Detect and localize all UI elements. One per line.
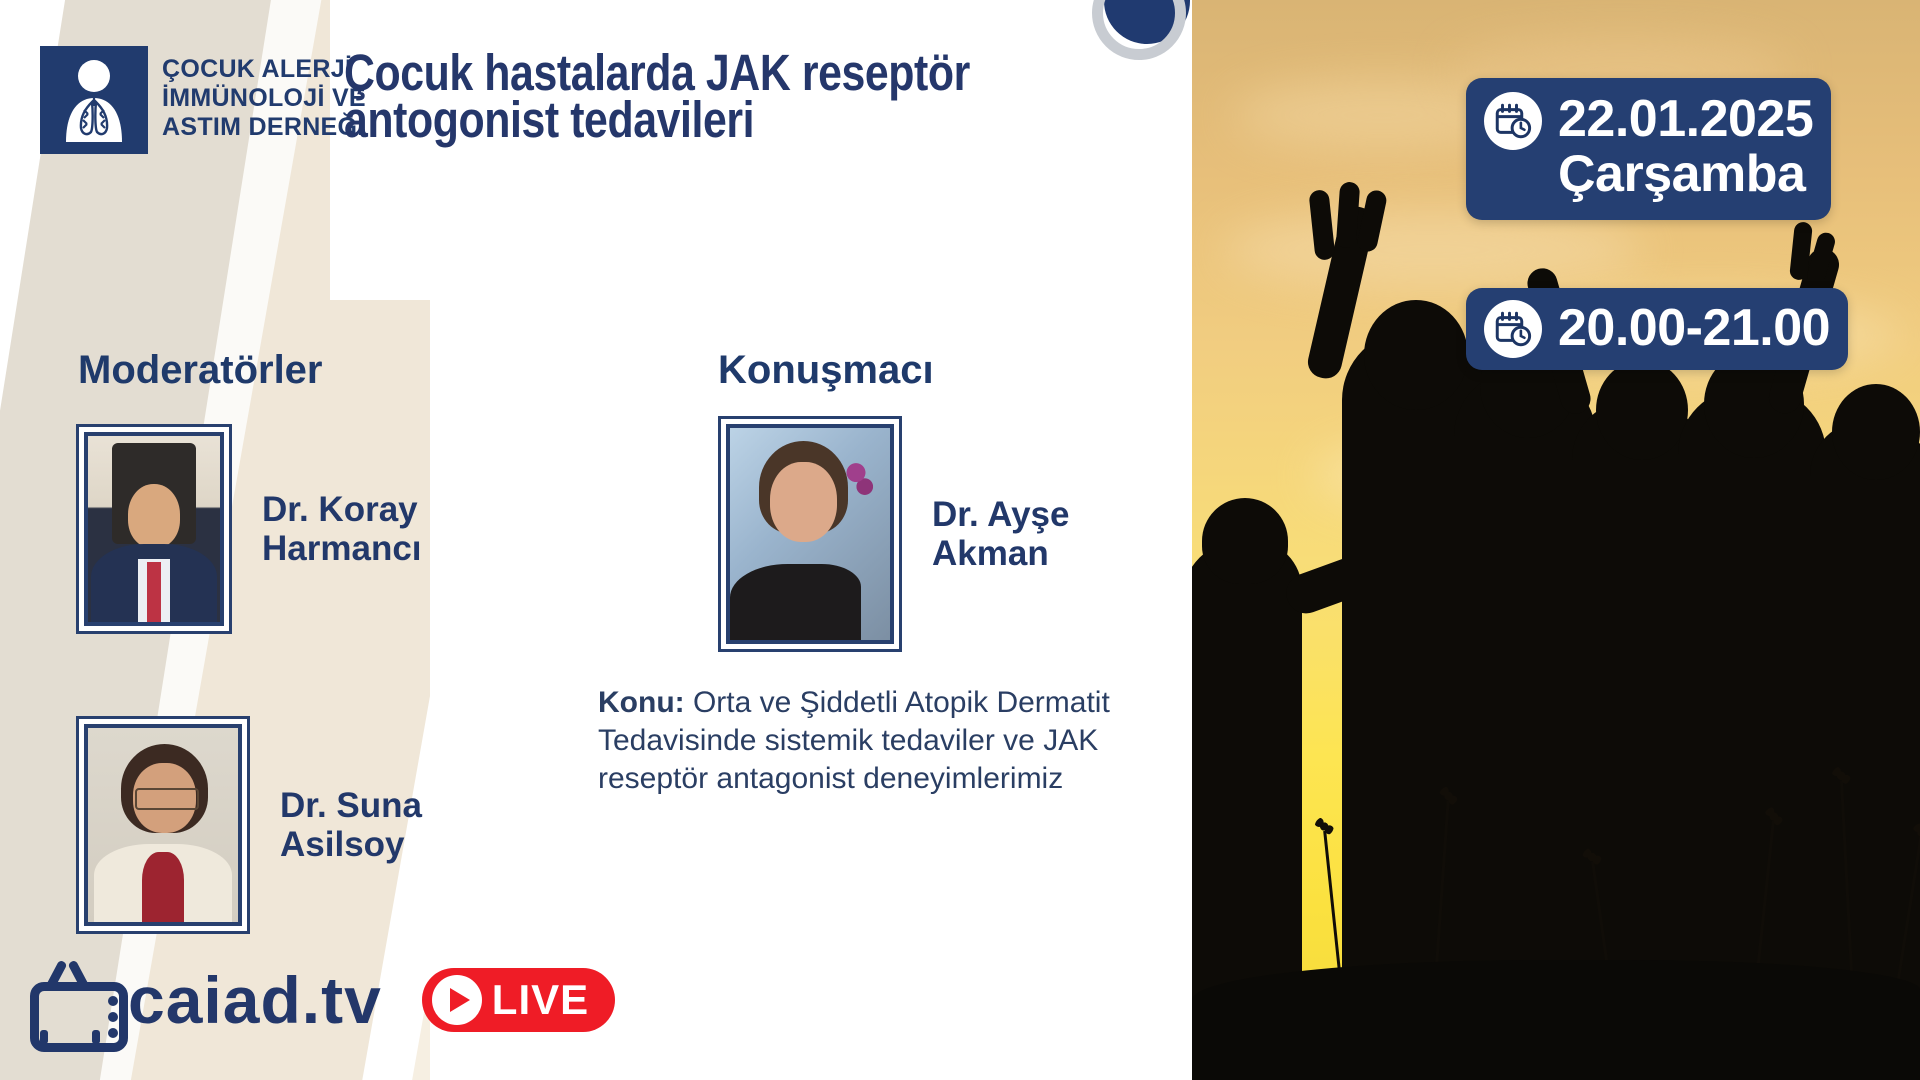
date-badge: 22.01.2025 Çarşamba xyxy=(1466,78,1831,220)
association-logo: ÇOCUK ALERJİ İMMÜNOLOJİ VE ASTIM DERNEĞİ xyxy=(40,46,366,154)
speaker-heading: Konuşmacı xyxy=(718,348,934,393)
speaker-name: Dr. Ayşe Akman xyxy=(932,495,1070,573)
brand-bar: caiad.tv LIVE xyxy=(30,960,615,1040)
photo-frame xyxy=(718,416,902,652)
portrait-suna-asilsoy xyxy=(84,724,242,926)
title-line-1: Çocuk hastalarda JAK reseptör xyxy=(344,50,1041,97)
event-time: 20.00-21.00 xyxy=(1558,301,1830,356)
talk-topic-label: Konu: xyxy=(598,686,685,719)
association-name: ÇOCUK ALERJİ İMMÜNOLOJİ VE ASTIM DERNEĞİ xyxy=(162,57,366,144)
live-label: LIVE xyxy=(492,976,589,1024)
speaker-card: Dr. Ayşe Akman xyxy=(718,416,1070,652)
title-line-2: antogonist tedavileri xyxy=(344,97,1041,144)
event-date: 22.01.2025 Çarşamba xyxy=(1558,92,1813,202)
play-icon xyxy=(432,975,482,1025)
moderator-name: Dr. Koray Harmancı xyxy=(262,490,422,568)
calendar-clock-icon xyxy=(1484,300,1542,358)
moderators-heading: Moderatörler xyxy=(78,348,323,393)
portrait-koray-harmanci xyxy=(84,432,224,626)
calendar-clock-icon xyxy=(1484,92,1542,150)
logo-line-3: ASTIM DERNEĞİ xyxy=(162,115,366,140)
person-lungs-icon xyxy=(40,46,148,154)
logo-line-2: İMMÜNOLOJİ VE xyxy=(162,86,366,111)
photo-frame xyxy=(76,716,250,934)
webinar-poster: ÇOCUK ALERJİ İMMÜNOLOJİ VE ASTIM DERNEĞİ… xyxy=(0,0,1920,1080)
time-badge: 20.00-21.00 xyxy=(1466,288,1848,370)
moderator-card: Dr. Suna Asilsoy xyxy=(76,716,422,934)
moderator-name: Dr. Suna Asilsoy xyxy=(280,786,422,864)
page-title: Çocuk hastalarda JAK reseptör antogonist… xyxy=(344,50,1041,144)
portrait-ayse-akman xyxy=(726,424,894,644)
site-name[interactable]: caiad.tv xyxy=(128,967,382,1033)
tv-icon xyxy=(30,960,122,1040)
ground-silhouette xyxy=(1192,960,1920,1080)
moderator-card: Dr. Koray Harmancı xyxy=(76,424,422,634)
photo-frame xyxy=(76,424,232,634)
talk-topic: Konu: Orta ve Şiddetli Atopik Dermatit T… xyxy=(598,684,1178,797)
live-badge[interactable]: LIVE xyxy=(422,968,615,1032)
logo-line-1: ÇOCUK ALERJİ xyxy=(162,57,366,82)
